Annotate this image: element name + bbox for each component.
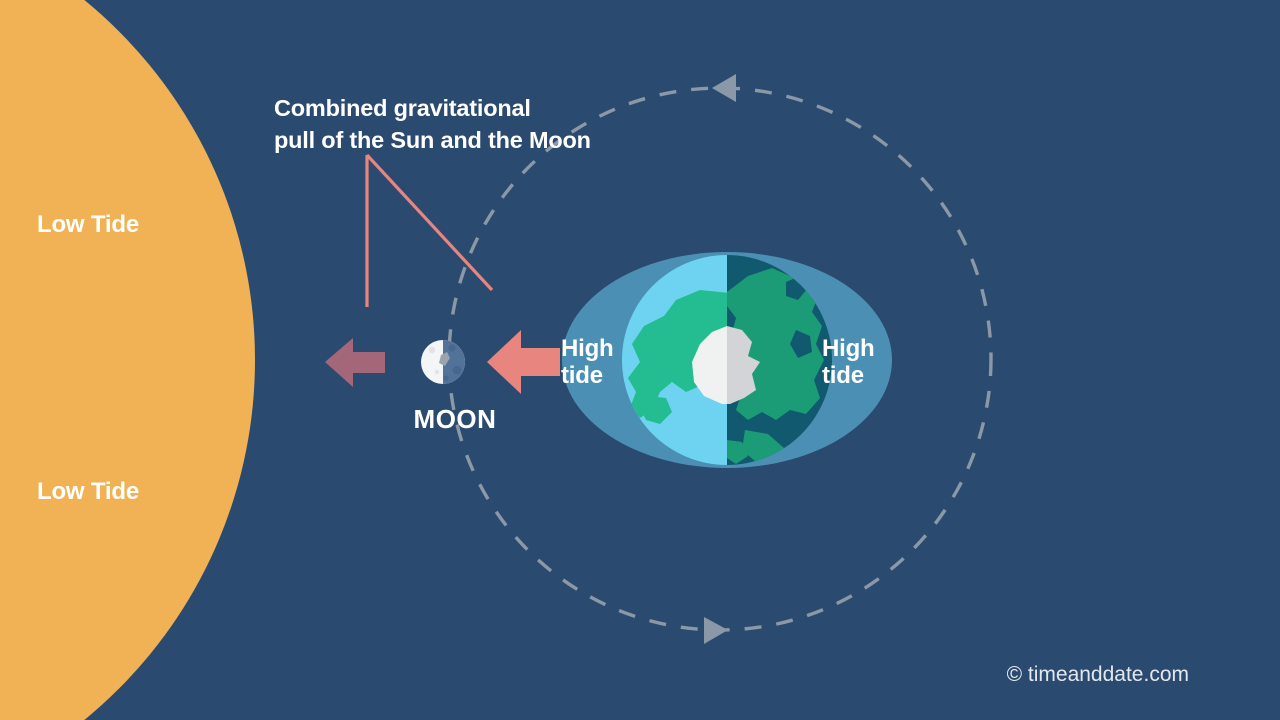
moon-crater: [448, 344, 455, 351]
diagram-canvas: [0, 0, 1280, 720]
moon-label: MOON: [0, 405, 910, 434]
moon-crater: [429, 347, 435, 353]
low-tide-bottom-label: Low Tide: [0, 479, 728, 506]
moon-crater: [435, 370, 439, 374]
credit-text: © timeanddate.com: [0, 663, 1189, 687]
low-tide-top-label: Low Tide: [0, 212, 728, 239]
high-tide-left-label: High tide: [561, 336, 614, 390]
tide-diagram: Combined gravitational pull of the Sun a…: [0, 0, 1280, 720]
moon-crater: [443, 375, 448, 380]
callout-label: Combined gravitational pull of the Sun a…: [274, 92, 591, 156]
moon-crater: [453, 366, 462, 375]
high-tide-right-label: High tide: [822, 336, 875, 390]
